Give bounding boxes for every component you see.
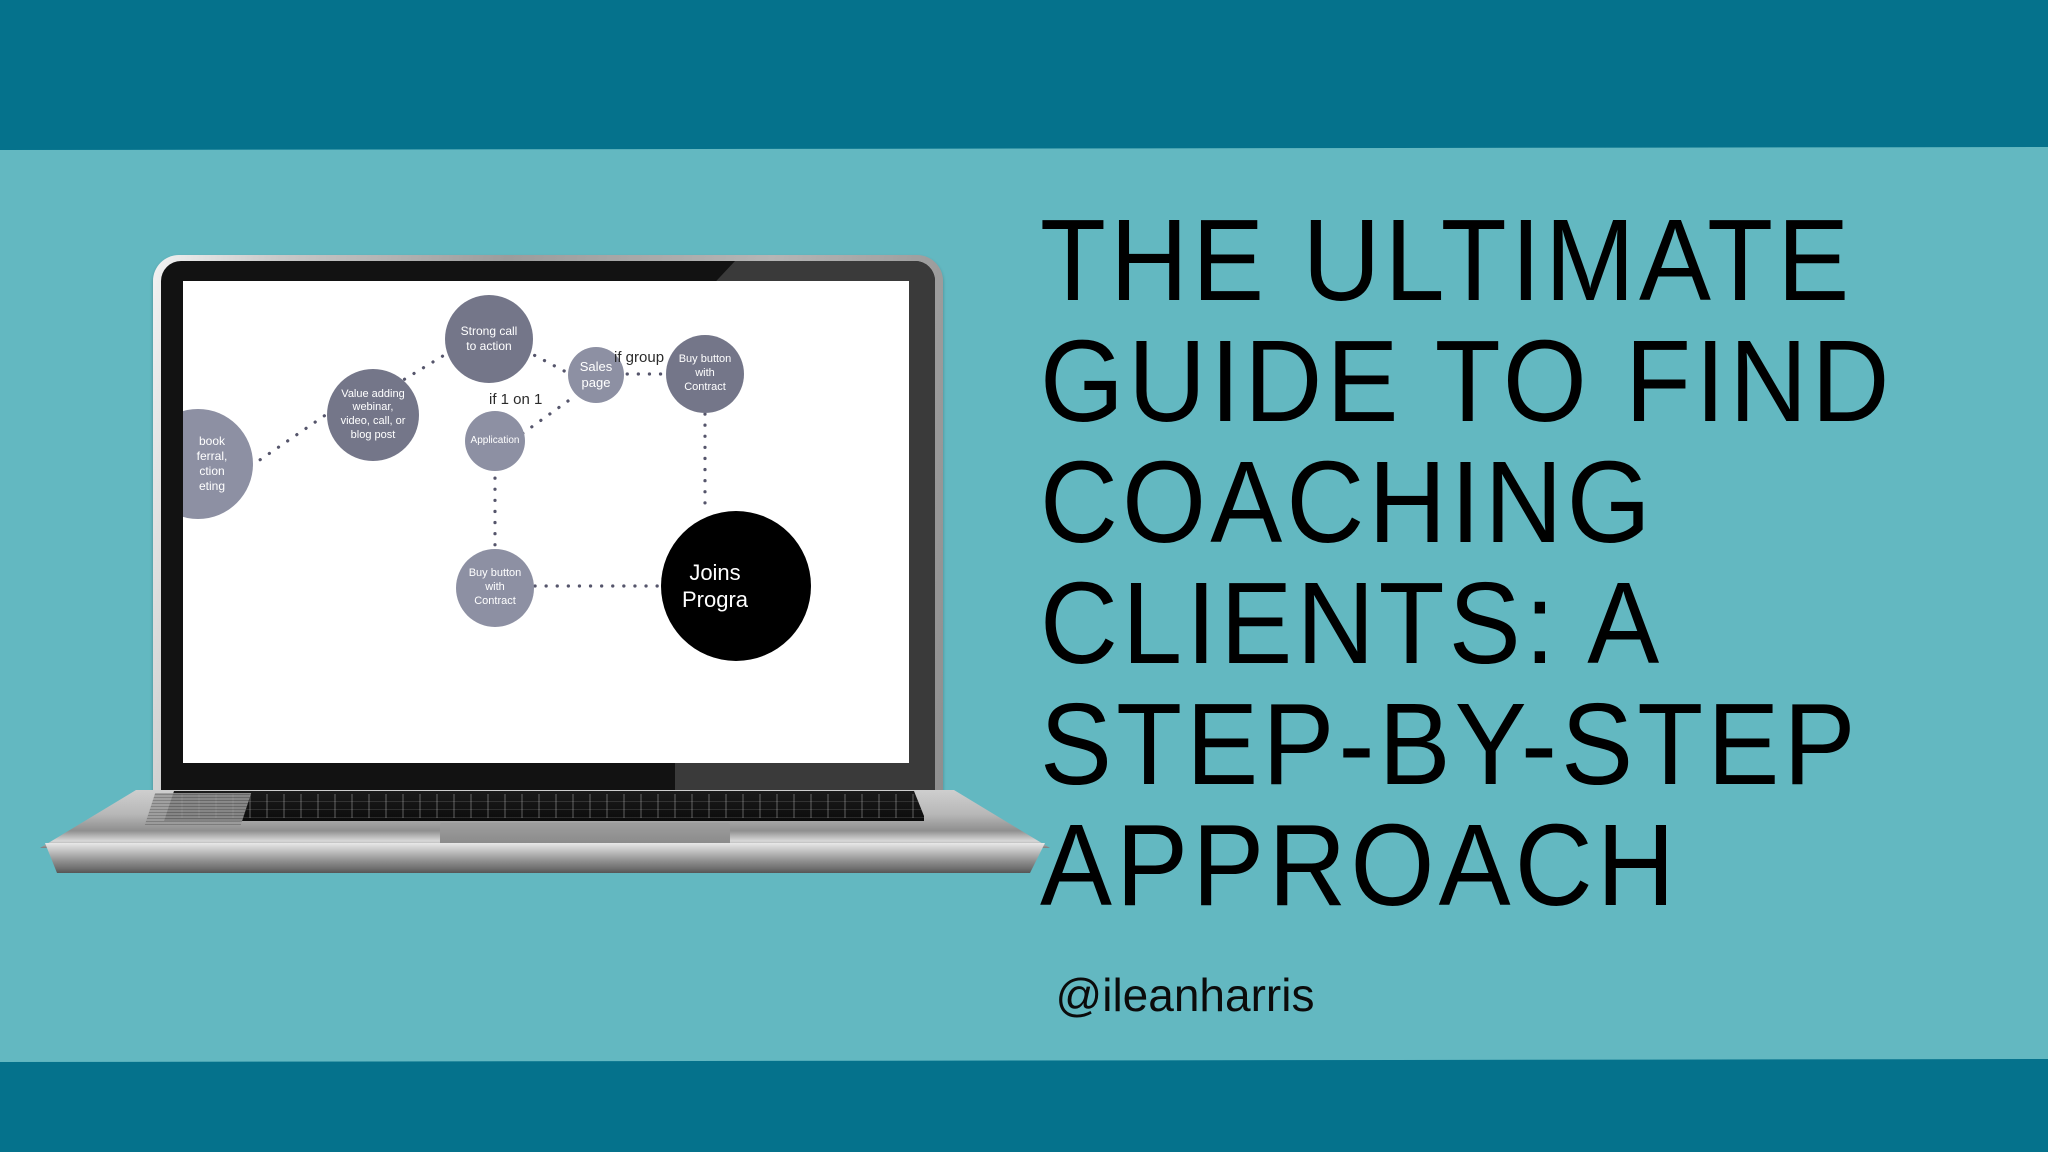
poster-canvas: book ferral, ction eting Value adding we… <box>0 0 2048 1152</box>
page-title: THE ULTIMATE GUIDE TO FIND COACHING CLIE… <box>1040 200 1961 926</box>
node-joins-program-label: Joins Progra <box>682 559 790 614</box>
node-value-adding-label: Value adding webinar, video, call, or bl… <box>341 388 406 443</box>
edge-label-if-group: if group <box>614 349 664 366</box>
laptop-keyboard <box>164 791 924 821</box>
node-sales-page-label: Sales page <box>580 359 613 392</box>
laptop-trackpad[interactable] <box>440 823 730 845</box>
node-buy-button-group-label: Buy button with Contract <box>679 353 732 394</box>
node-buy-button-1on1[interactable]: Buy button with Contract <box>456 549 534 627</box>
keyboard-keys <box>164 794 924 818</box>
node-application-label: Application <box>471 435 520 448</box>
social-handle: @ileanharris <box>865 968 1505 1022</box>
background-bottom-band <box>0 1055 2048 1152</box>
laptop-screen: book ferral, ction eting Value adding we… <box>183 281 909 763</box>
node-application[interactable]: Application <box>465 411 525 471</box>
laptop-mockup: book ferral, ction eting Value adding we… <box>40 255 1050 875</box>
laptop-speaker-grill <box>145 793 251 825</box>
node-buy-button-group[interactable]: Buy button with Contract <box>666 335 744 413</box>
node-buy-button-1on1-label: Buy button with Contract <box>469 567 522 608</box>
node-strong-call-to-action[interactable]: Strong call to action <box>445 295 533 383</box>
funnel-diagram-edges <box>183 281 909 763</box>
laptop-base-edge <box>35 843 1055 873</box>
node-strong-call-to-action-label: Strong call to action <box>461 324 518 354</box>
node-joins-program[interactable]: Joins Progra <box>661 511 811 661</box>
edge-label-if-1-on-1: if 1 on 1 <box>489 391 542 408</box>
node-value-adding[interactable]: Value adding webinar, video, call, or bl… <box>327 369 419 461</box>
background-top-band <box>0 0 2048 150</box>
node-traffic-label: book ferral, ction eting <box>183 434 227 494</box>
